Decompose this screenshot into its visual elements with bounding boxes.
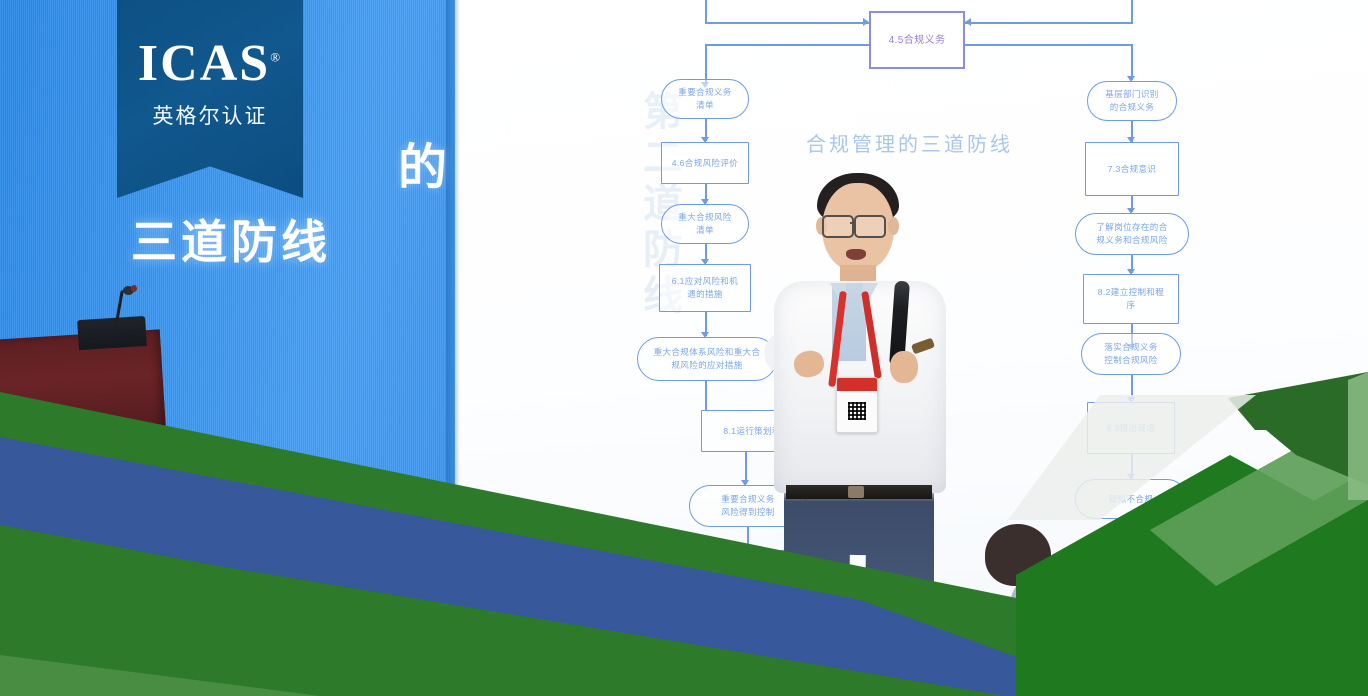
arrow-icon: [863, 18, 869, 26]
connector: [705, 22, 869, 24]
flow-node-7-3-compliance-awareness: 7.3合规意识: [1085, 142, 1179, 196]
connector: [1131, 44, 1133, 80]
belt-buckle: [848, 486, 864, 498]
arrow-icon: [1127, 539, 1135, 545]
eyeglasses-bridge: [850, 222, 856, 224]
name-badge: [836, 377, 878, 433]
qr-code-icon: [848, 402, 866, 420]
eyeglasses-lens-right-icon: [854, 215, 886, 238]
registered-trademark-icon: ®: [270, 50, 282, 65]
screenshot-root: 第二道防线 4.5合规义务 重要合规义务 清单 4.6合规风险评价 重大合规风险…: [0, 0, 1368, 696]
presenter-right-hand: [890, 351, 918, 383]
flow-node-4-6-risk-assessment: 4.6合规风险评价: [661, 142, 749, 184]
connector: [965, 44, 1133, 46]
podium-console: [77, 316, 147, 350]
icas-chinese-name: 英格尔认证: [117, 100, 303, 130]
presenter: [760, 155, 975, 605]
presenter-ear-right: [888, 217, 899, 235]
microphone-tip: [131, 285, 137, 292]
audience-head: [625, 536, 687, 594]
connector: [705, 0, 707, 22]
arrow-icon: [965, 18, 971, 26]
led-headline-line2: 三道防线: [131, 206, 331, 272]
slide-title: 合规管理的三道防线: [806, 128, 1013, 157]
connector: [965, 22, 1133, 24]
icas-wordmark-text: ICAS: [138, 35, 270, 92]
flow-node-key-obligation-list: 重要合规义务 清单: [661, 79, 749, 119]
connector: [705, 44, 869, 46]
connector: [705, 381, 707, 411]
flow-node-post-obligations-awareness: 了解岗位存在的合 规义务和合规风险: [1075, 213, 1189, 255]
flow-node-6-3-raise-concerns: 6.3提出疑虑: [1087, 402, 1175, 454]
flow-node-department-identified-obligations: 基层部门识别 的合规义务: [1087, 81, 1177, 121]
flow-node-major-risk-list: 重大合规风险 清单: [661, 204, 749, 244]
flow-node-4-5-compliance-obligations: 4.5合规义务: [869, 11, 965, 69]
eyeglasses-lens-left-icon: [822, 215, 854, 238]
audience-head: [1010, 570, 1130, 696]
flow-node-6-1-risk-measures: 6.1应对风险和机 遇的措施: [659, 264, 751, 312]
presenter-mouth: [846, 249, 866, 260]
flow-node-suspected-noncompliance: 疑似不合规: [1075, 479, 1187, 519]
icas-wordmark: ICAS®: [117, 38, 303, 90]
flow-node-major-response-measures: 重大合规体系风险和重大合 规风险的应对措施: [637, 337, 777, 381]
name-badge-header: [837, 378, 877, 391]
connector: [1131, 0, 1133, 22]
led-wall-edge: [446, 0, 460, 696]
flow-node-implement-obligations: 落实合规义务 控制合规风险: [1081, 333, 1181, 375]
presenter-leg-gap: [846, 555, 866, 696]
flow-node-8-2-controls-procedures: 8.2建立控制和程 序: [1083, 274, 1179, 324]
